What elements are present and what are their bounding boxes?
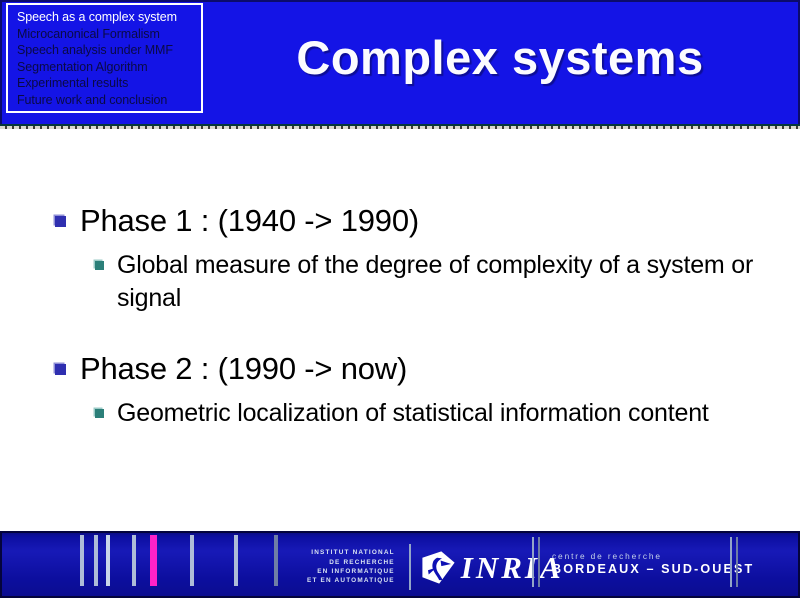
bullet-level1-phase-1: Phase 1 : (1940 -> 1990) (0, 202, 800, 240)
outline-item-future-work-and-conclusion[interactable]: Future work and conclusion (17, 92, 201, 109)
bullet-level2-phase-2-detail: Geometric localization of statistical in… (0, 397, 800, 430)
bullet-level1-text: Phase 1 : (1940 -> 1990) (80, 203, 419, 238)
outline-item-experimental-results[interactable]: Experimental results (17, 75, 201, 92)
inria-line-2: DE RECHERCHE (307, 558, 395, 567)
footer-divider-c (730, 537, 732, 587)
bullet-level1-text: Phase 2 : (1990 -> now) (80, 351, 407, 386)
inria-line-1: INSTITUT NATIONAL (307, 548, 395, 557)
inria-emblem-icon (421, 550, 456, 585)
square-bullet-icon (55, 364, 66, 375)
footer-divider-a (532, 537, 534, 587)
outline-item-speech-as-a-complex-system[interactable]: Speech as a complex system (17, 9, 201, 26)
square-bullet-icon (55, 216, 66, 227)
presentation-slide: Speech as a complex system Microcanonica… (0, 0, 800, 598)
square-subbullet-icon (95, 261, 104, 270)
footer-bar-7 (274, 535, 278, 586)
header-dashed-divider (0, 126, 800, 129)
inria-divider (409, 544, 411, 590)
content-block-phase-1: Phase 1 : (1940 -> 1990) Global measure … (0, 202, 800, 315)
outline-item-speech-analysis-under-mmf[interactable]: Speech analysis under MMF (17, 42, 201, 59)
inria-wordmark: INRIA (461, 552, 564, 583)
research-centre-block: centre de recherche BORDEAUX – SUD-OUEST (552, 550, 754, 577)
outline-navigation-box[interactable]: Speech as a complex system Microcanonica… (6, 3, 203, 113)
bullet-level2-text: Global measure of the degree of complexi… (117, 251, 753, 312)
centre-label: centre de recherche (552, 550, 754, 562)
inria-line-3: EN INFORMATIQUE (307, 567, 395, 576)
slide-body: Phase 1 : (1940 -> 1990) Global measure … (0, 132, 800, 528)
inria-institute-text: INSTITUT NATIONAL DE RECHERCHE EN INFORM… (307, 548, 395, 585)
footer-divider-b (538, 537, 540, 587)
page-title: Complex systems (220, 34, 780, 81)
footer-bar-1 (80, 535, 84, 586)
outline-item-segmentation-algorithm[interactable]: Segmentation Algorithm (17, 59, 201, 76)
bullet-level2-phase-1-detail: Global measure of the degree of complexi… (0, 249, 800, 315)
footer-bar-magenta-accent (150, 535, 157, 586)
footer-bar-4 (132, 535, 136, 586)
slide-footer: INSTITUT NATIONAL DE RECHERCHE EN INFORM… (0, 531, 800, 598)
square-subbullet-icon (95, 409, 104, 418)
bullet-level1-phase-2: Phase 2 : (1990 -> now) (0, 350, 800, 388)
footer-bar-2 (94, 535, 98, 586)
footer-bar-6 (234, 535, 238, 586)
footer-divider-d (736, 537, 738, 587)
footer-bar-3 (106, 535, 110, 586)
outline-item-microcanonical-formalism[interactable]: Microcanonical Formalism (17, 26, 201, 43)
centre-name: BORDEAUX – SUD-OUEST (552, 562, 754, 577)
footer-bar-5 (190, 535, 194, 586)
inria-logo-block: INSTITUT NATIONAL DE RECHERCHE EN INFORM… (307, 544, 564, 590)
inria-line-4: ET EN AUTOMATIQUE (307, 576, 395, 585)
content-block-phase-2: Phase 2 : (1990 -> now) Geometric locali… (0, 350, 800, 430)
bullet-level2-text: Geometric localization of statistical in… (117, 399, 709, 427)
